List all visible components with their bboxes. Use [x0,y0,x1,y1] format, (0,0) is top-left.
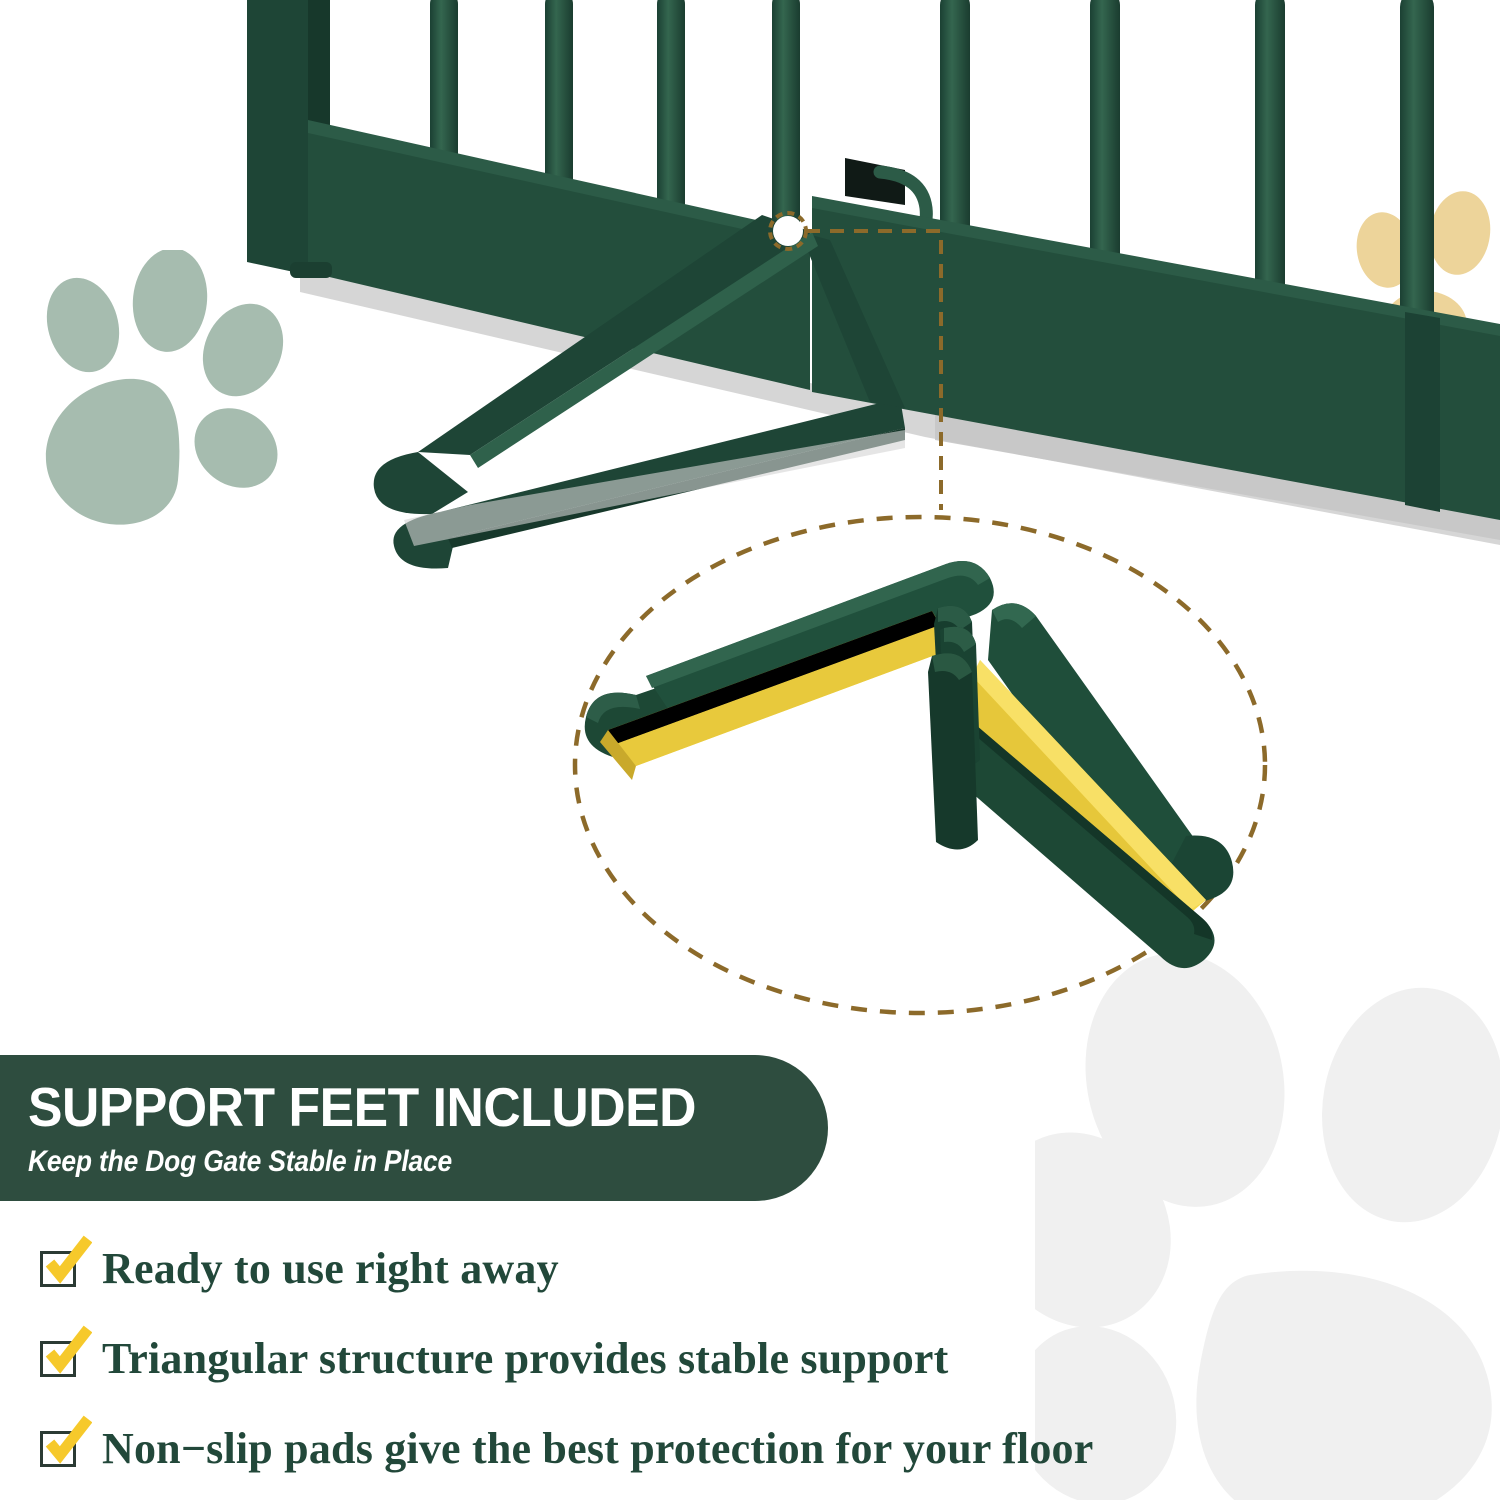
list-item: Ready to use right away [40,1232,1460,1304]
list-item-label: Triangular structure provides stable sup… [102,1333,949,1384]
list-item: Triangular structure provides stable sup… [40,1322,1460,1394]
gate-post-left [247,0,308,275]
support-foot-center-bracket [928,653,978,849]
checkbox-checked-icon [40,1427,82,1469]
checkbox-checked-icon [40,1337,82,1379]
list-item: Non−slip pads give the best protection f… [40,1412,1460,1484]
banner-headline: SUPPORT FEET INCLUDED [28,1080,780,1135]
list-item-label: Ready to use right away [102,1243,559,1294]
feature-bullet-list: Ready to use right away Triangular struc… [40,1232,1460,1500]
list-item-label: Non−slip pads give the best protection f… [102,1423,1093,1474]
support-foot-detail-callout [540,480,1300,1060]
infographic-canvas: SUPPORT FEET INCLUDED Keep the Dog Gate … [0,0,1500,1500]
banner-subheadline: Keep the Dog Gate Stable in Place [28,1147,732,1177]
feature-banner: SUPPORT FEET INCLUDED Keep the Dog Gate … [0,1055,828,1201]
support-foot-right-wing [934,603,1233,968]
checkbox-checked-icon [40,1247,82,1289]
